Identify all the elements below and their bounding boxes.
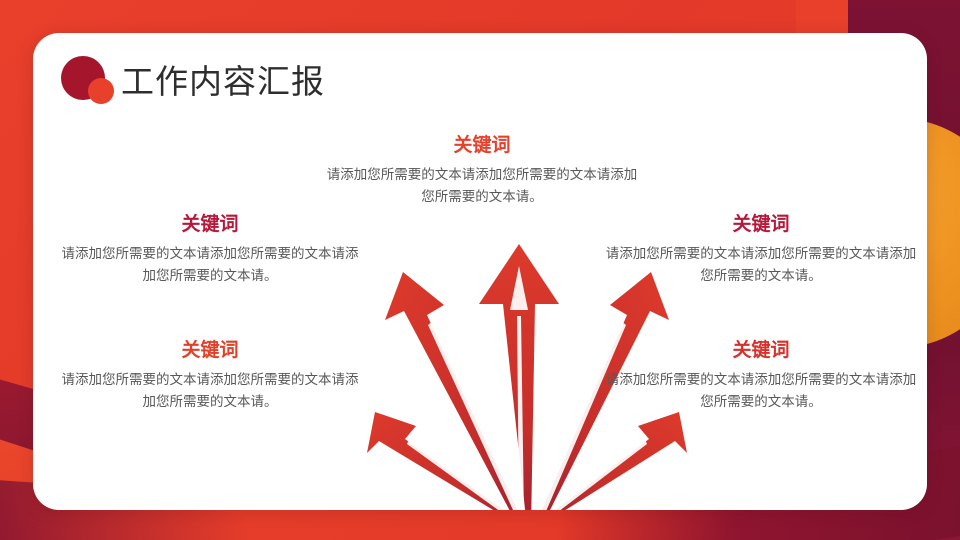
- keyword-lower-right: 关键词: [605, 341, 917, 362]
- slide-header: 工作内容汇报: [55, 53, 325, 109]
- text-block-top-center: 关键词 请添加您所需要的文本请添加您所需要的文本请添加您所需要的文本请。: [324, 136, 640, 208]
- body-top-center: 请添加您所需要的文本请添加您所需要的文本请添加您所需要的文本请。: [324, 164, 640, 208]
- keyword-top-center: 关键词: [324, 136, 640, 157]
- keyword-lower-left: 关键词: [55, 341, 365, 362]
- body-lower-right: 请添加您所需要的文本请添加您所需要的文本请添加您所需要的文本请。: [605, 369, 917, 413]
- logo-small-circle-icon: [88, 78, 114, 104]
- text-block-lower-left: 关键词 请添加您所需要的文本请添加您所需要的文本请添加您所需要的文本请。: [55, 341, 365, 413]
- keyword-upper-right: 关键词: [605, 215, 917, 236]
- text-block-upper-right: 关键词 请添加您所需要的文本请添加您所需要的文本请添加您所需要的文本请。: [605, 215, 917, 287]
- arrow-up-right-wide: [537, 412, 687, 510]
- content-card: 工作内容汇报: [33, 33, 927, 510]
- text-block-lower-right: 关键词 请添加您所需要的文本请添加您所需要的文本请添加您所需要的文本请。: [605, 341, 917, 413]
- text-block-upper-left: 关键词 请添加您所需要的文本请添加您所需要的文本请添加您所需要的文本请。: [55, 215, 365, 287]
- arrow-up-left-wide: [367, 412, 523, 510]
- keyword-upper-left: 关键词: [55, 215, 365, 236]
- slide-canvas: 工作内容汇报: [0, 0, 960, 540]
- logo: [55, 53, 121, 109]
- body-lower-left: 请添加您所需要的文本请添加您所需要的文本请添加您所需要的文本请。: [55, 369, 365, 413]
- body-upper-left: 请添加您所需要的文本请添加您所需要的文本请添加您所需要的文本请。: [55, 243, 365, 287]
- page-title: 工作内容汇报: [121, 65, 325, 98]
- body-upper-right: 请添加您所需要的文本请添加您所需要的文本请添加您所需要的文本请。: [605, 243, 917, 287]
